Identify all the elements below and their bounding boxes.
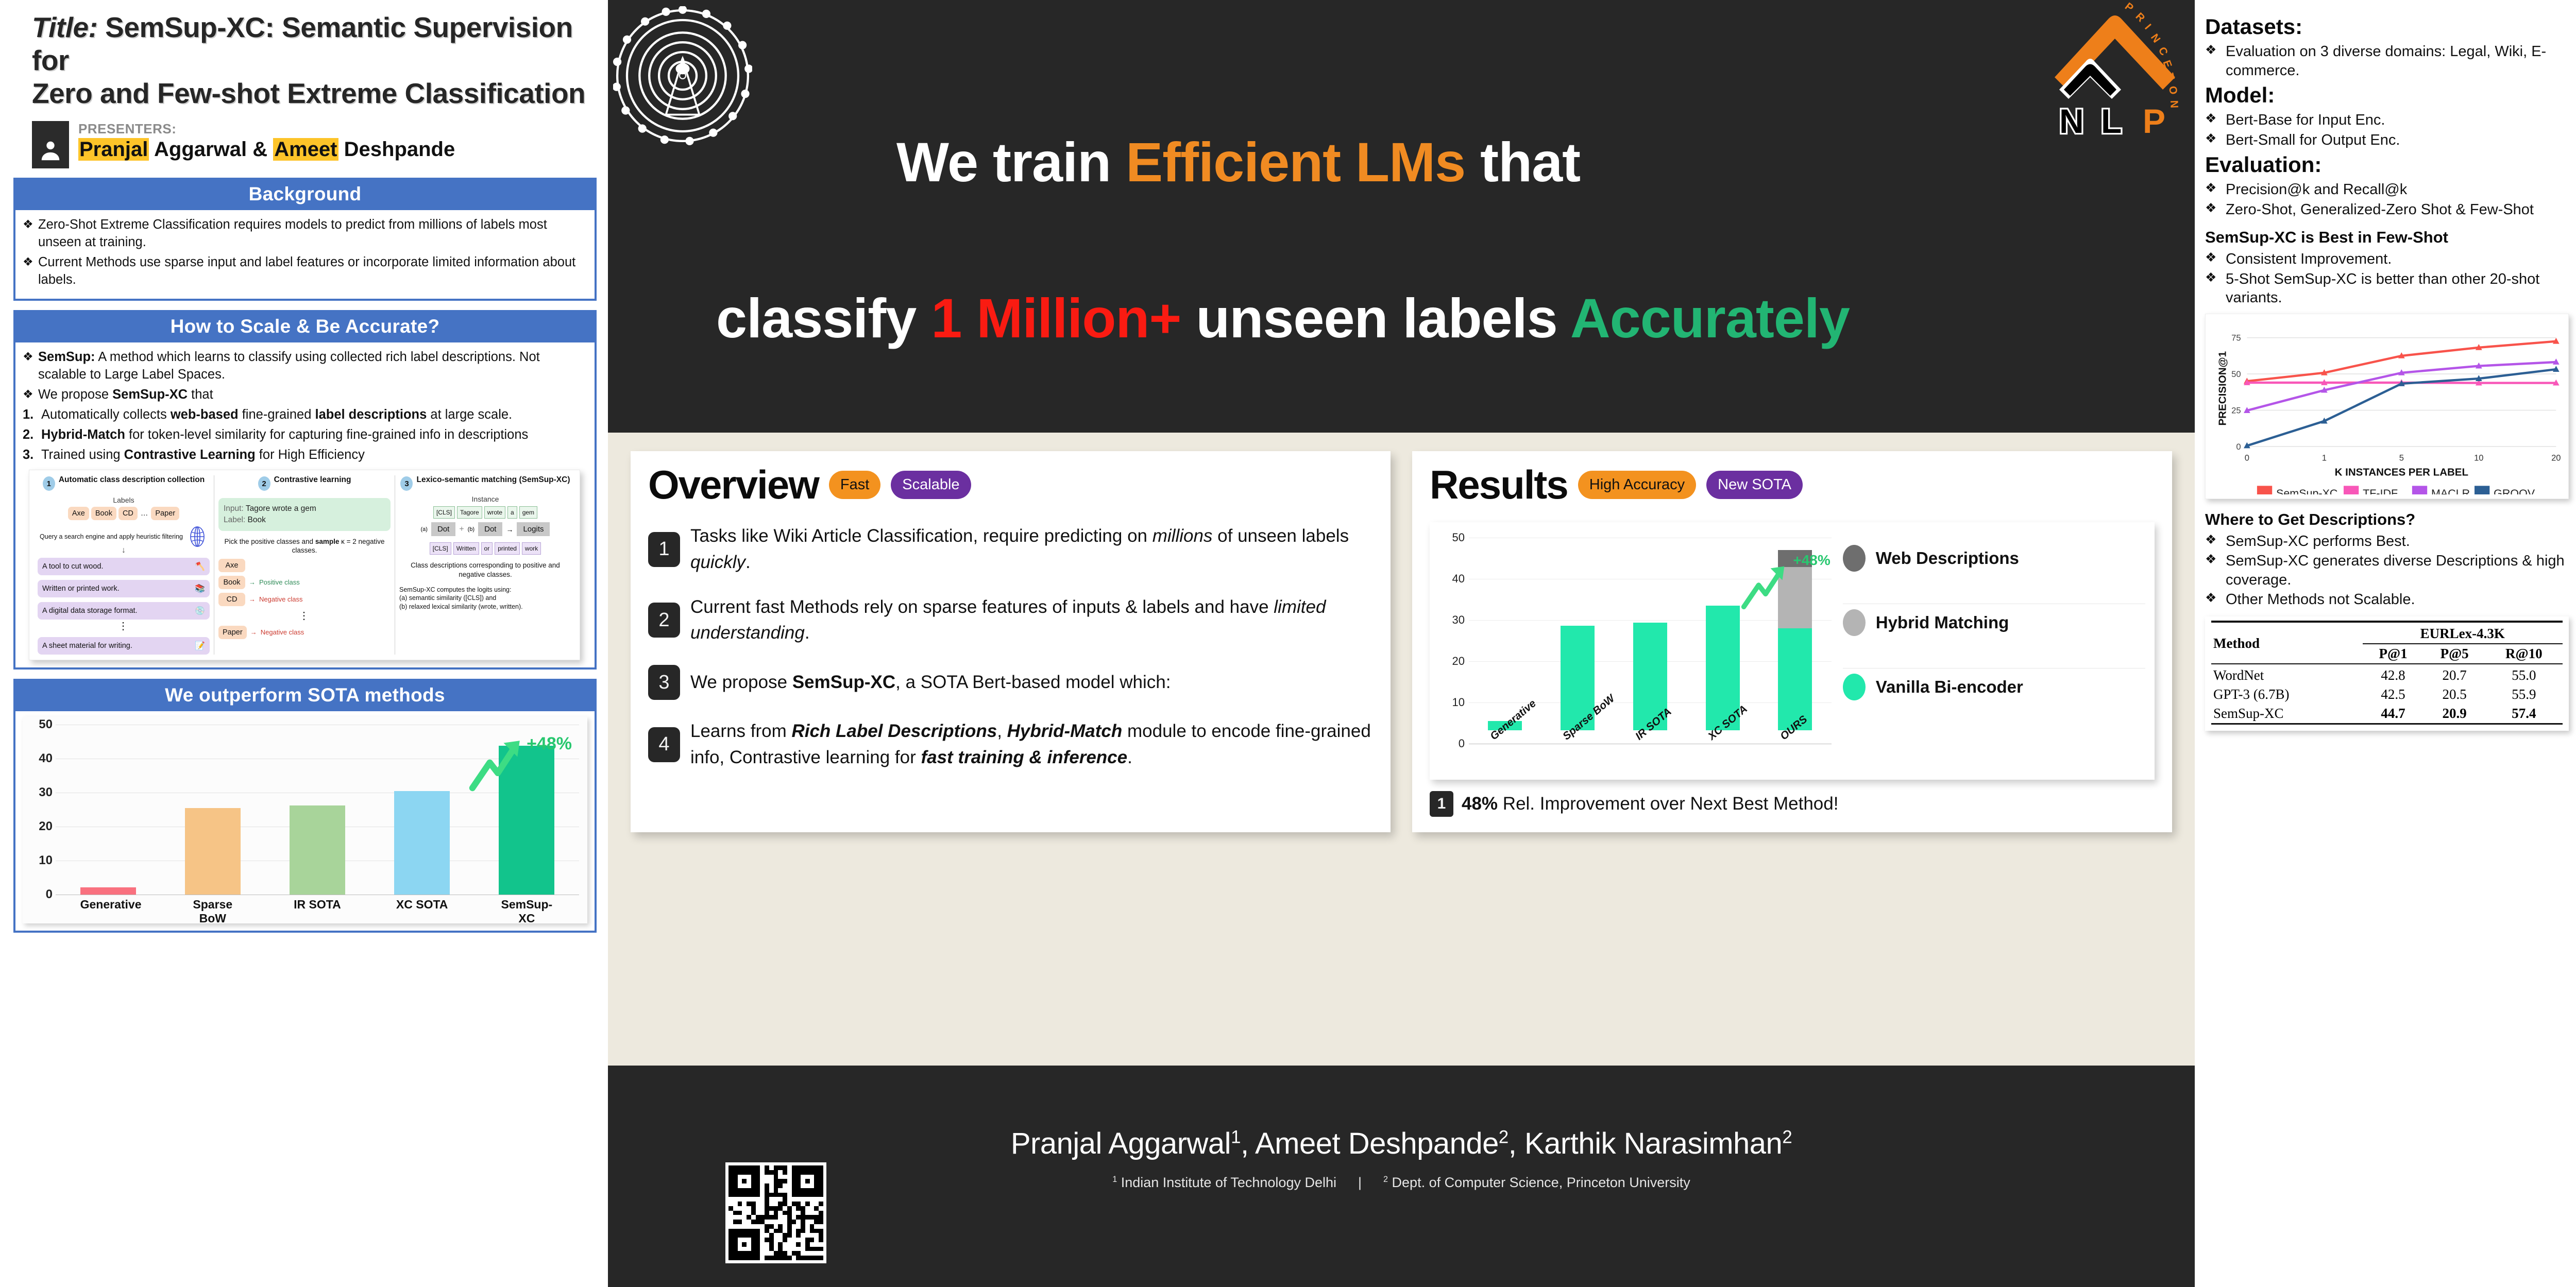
- qr-module: [783, 1238, 787, 1242]
- qr-module: [792, 1170, 796, 1175]
- footnote-line: (a) semantic similarity ([CLS]) and: [399, 594, 571, 603]
- ov4-bolditalic-1: Rich Label Descriptions: [791, 721, 997, 741]
- qr-module: [756, 1165, 760, 1170]
- qr-module: [814, 1229, 819, 1233]
- x-axis-tick: 10: [2474, 453, 2483, 462]
- diamond-bullet-icon: ❖: [2205, 111, 2226, 130]
- qr-module: [819, 1247, 823, 1251]
- item-bold-2: label descriptions: [315, 407, 427, 422]
- method-figure: 1 Automatic class description collection…: [29, 470, 580, 660]
- instance-caption: Instance: [399, 495, 571, 503]
- qr-module: [801, 1238, 805, 1242]
- y-axis-tick: 0: [1441, 737, 1465, 750]
- qr-module: [814, 1165, 819, 1170]
- description-token: printed: [495, 542, 520, 555]
- badge-scalable[interactable]: Scalable: [891, 471, 971, 499]
- x-axis-label-slot: XC SOTA: [1706, 730, 1740, 771]
- qr-module: [810, 1238, 815, 1242]
- legend-label: SemSup-XC: [2276, 487, 2337, 494]
- results-plot-area: 01020304050+48% GenerativeSparse BoWIR S…: [1439, 530, 1835, 775]
- method-footnotes: SemSup-XC computes the logits using: (a)…: [399, 586, 571, 612]
- qr-module: [751, 1251, 756, 1256]
- labels-caption: Labels: [38, 496, 210, 504]
- col-header-r10: R@10: [2485, 644, 2563, 664]
- list-item: 2. Hybrid-Match for token-level similari…: [23, 426, 586, 444]
- hero-line-2: classify 1 Million+ unseen labels Accura…: [716, 286, 1850, 350]
- bullet-text: 5-Shot SemSup-XC is better than other 20…: [2226, 270, 2569, 307]
- qr-module: [814, 1247, 819, 1251]
- dot-node-a: Dot: [431, 522, 455, 536]
- qr-module: [778, 1224, 783, 1229]
- qr-module: [792, 1211, 796, 1215]
- qr-module: [792, 1193, 796, 1197]
- x-axis-label: K INSTANCES PER LABEL: [2335, 467, 2468, 478]
- qr-module: [810, 1206, 815, 1211]
- presenter-1-first: Pranjal: [78, 138, 149, 161]
- qr-module: [769, 1233, 774, 1238]
- qr-module: [796, 1220, 801, 1224]
- qr-module: [796, 1206, 801, 1211]
- class-chip: Axe: [218, 559, 245, 572]
- qr-module: [778, 1229, 783, 1233]
- qr-module: [774, 1256, 778, 1260]
- description-text: A sheet material for writing.: [42, 642, 132, 650]
- bullet-text: Bert-Base for Input Enc.: [2226, 111, 2385, 130]
- svg-text:N: N: [2148, 32, 2163, 45]
- legend-swatch-hybrid-matching: [1843, 609, 1866, 636]
- qr-module: [751, 1202, 756, 1206]
- svg-text:C: C: [2156, 45, 2170, 58]
- qr-module: [756, 1197, 760, 1202]
- logits-node: Logits: [517, 522, 550, 536]
- qr-module: [796, 1215, 801, 1220]
- semsup-term: SemSup:: [38, 350, 95, 364]
- qr-module: [783, 1197, 787, 1202]
- overview-text-3: We propose SemSup-XC, a SOTA Bert-based …: [690, 670, 1171, 696]
- list-item: ❖5-Shot SemSup-XC is better than other 2…: [2205, 270, 2569, 307]
- list-number: 1.: [23, 406, 41, 424]
- badge-high-accuracy[interactable]: High Accuracy: [1578, 471, 1696, 499]
- qr-module: [814, 1170, 819, 1175]
- qr-module: [792, 1202, 796, 1206]
- results-footnote-rest: Rel. Improvement over Next Best Method!: [1498, 794, 1838, 814]
- qr-module: [814, 1224, 819, 1229]
- qr-module: [819, 1202, 823, 1206]
- qr-module: [733, 1215, 738, 1220]
- step-title-2: Contrastive learning: [274, 475, 351, 485]
- overview-number-3: 3: [648, 665, 680, 700]
- footer-bar: Pranjal Aggarwal1, Ameet Deshpande2, Kar…: [608, 1066, 2195, 1287]
- qr-module: [756, 1229, 760, 1233]
- qr-module: [792, 1197, 796, 1202]
- qr-module: [774, 1251, 778, 1256]
- description-text: A tool to cut wood.: [42, 562, 104, 571]
- diamond-bullet-icon: ❖: [2205, 180, 2226, 199]
- qr-module: [769, 1197, 774, 1202]
- qr-module: [733, 1247, 738, 1251]
- qr-module: [801, 1211, 805, 1215]
- cell-r10: 57.4: [2485, 704, 2563, 724]
- qr-module: [805, 1229, 810, 1233]
- y-axis-tick: 40: [30, 751, 53, 766]
- qr-module: [787, 1206, 792, 1211]
- description-token: Written: [453, 542, 479, 555]
- qr-module: [765, 1247, 769, 1251]
- method-figure-column-1: 1 Automatic class description collection…: [33, 475, 214, 655]
- right-column: Datasets: ❖Evaluation on 3 diverse domai…: [2195, 0, 2576, 1287]
- qr-module: [747, 1170, 751, 1175]
- qr-module: [801, 1224, 805, 1229]
- qr-module: [765, 1251, 769, 1256]
- overview-text-4: Learns from Rich Label Descriptions, Hyb…: [690, 718, 1373, 771]
- qr-module: [742, 1215, 747, 1220]
- qr-module: [742, 1238, 747, 1242]
- x-axis-label-slot: Generative: [1488, 730, 1522, 771]
- cell-r10: 55.0: [2485, 666, 2563, 685]
- qr-module: [747, 1211, 751, 1215]
- y-axis-tick: 20: [30, 819, 53, 834]
- qr-module: [787, 1224, 792, 1229]
- qr-module: [756, 1206, 760, 1211]
- ov1-italic-2: quickly: [690, 552, 745, 572]
- sampling-note: Pick the positive classes and sample κ =…: [218, 537, 391, 555]
- qr-module: [792, 1215, 796, 1220]
- qr-module: [769, 1251, 774, 1256]
- qr-module: [792, 1229, 796, 1233]
- qr-module: [765, 1215, 769, 1220]
- qr-module: [760, 1165, 765, 1170]
- step-badge-2: 2: [258, 476, 270, 491]
- results-stacked-bar-chart: 01020304050+48% GenerativeSparse BoWIR S…: [1430, 522, 2155, 780]
- qr-module: [765, 1197, 769, 1202]
- qr-module: [769, 1229, 774, 1233]
- qr-module: [756, 1247, 760, 1251]
- qr-module: [774, 1224, 778, 1229]
- item-bold-1: Contrastive Learning: [124, 448, 256, 462]
- list-item: ❖ Zero-Shot Extreme Classification requi…: [23, 216, 586, 251]
- bullet-text: Precision@k and Recall@k: [2226, 180, 2407, 199]
- qr-module: [765, 1211, 769, 1215]
- qr-module: [765, 1220, 769, 1224]
- qr-module: [728, 1224, 733, 1229]
- list-item: ❖ We propose SemSup-XC that: [23, 386, 586, 404]
- qr-module: [747, 1251, 751, 1256]
- affil-2: Dept. of Computer Science, Princeton Uni…: [1388, 1175, 1690, 1190]
- qr-module: [783, 1247, 787, 1251]
- qr-module: [796, 1170, 801, 1175]
- qr-module: [747, 1247, 751, 1251]
- qr-module: [751, 1170, 756, 1175]
- qr-module: [751, 1206, 756, 1211]
- qr-module: [778, 1251, 783, 1256]
- qr-module: [728, 1215, 733, 1220]
- list-item: 3. Trained using Contrastive Learning fo…: [23, 447, 586, 464]
- notepad-emoji-icon: 📝: [195, 641, 205, 651]
- overview-number-1: 1: [648, 532, 680, 567]
- hero-2b: 1 Million+: [931, 287, 1181, 349]
- qr-module: [805, 1206, 810, 1211]
- qr-module: [747, 1197, 751, 1202]
- qr-module: [819, 1256, 823, 1260]
- qr-module: [819, 1251, 823, 1256]
- qr-module: [778, 1206, 783, 1211]
- results-head: Results High Accuracy New SOTA: [1430, 465, 2155, 505]
- person-icon: [32, 121, 69, 168]
- class-kind: Negative class: [259, 595, 303, 603]
- qr-module: [769, 1242, 774, 1247]
- affil-1-sup: 1: [1112, 1175, 1117, 1184]
- qr-module: [765, 1229, 769, 1233]
- qr-module: [760, 1251, 765, 1256]
- label-chip-row: Axe Book CD … Paper: [38, 507, 210, 520]
- qr-module: [796, 1229, 801, 1233]
- qr-module: [778, 1202, 783, 1206]
- qr-module: [756, 1256, 760, 1260]
- overview-number-4: 4: [648, 727, 680, 762]
- qr-module: [774, 1238, 778, 1242]
- qr-module: [778, 1165, 783, 1170]
- qr-module: [733, 1233, 738, 1238]
- legend-label: GROOV: [2494, 487, 2535, 494]
- list-number: 3.: [23, 447, 41, 464]
- qr-module: [756, 1224, 760, 1229]
- qr-module: [769, 1206, 774, 1211]
- list-item: ❖Precision@k and Recall@k: [2205, 180, 2569, 199]
- left-column: Title: SemSup-XC: Semantic Supervision f…: [0, 0, 608, 1287]
- axe-emoji-icon: 🪓: [195, 561, 205, 572]
- x-axis-label-slot: OURS: [1778, 730, 1812, 771]
- plus-icon: +: [459, 525, 464, 534]
- y-axis-tick: 30: [1441, 613, 1465, 627]
- qr-module: [728, 1229, 733, 1233]
- qr-module: [814, 1211, 819, 1215]
- qr-module: [760, 1193, 765, 1197]
- marker-a: (a): [421, 526, 428, 533]
- qr-module: [787, 1238, 792, 1242]
- qr-module: [805, 1220, 810, 1224]
- qr-module: [805, 1238, 810, 1242]
- qr-module: [796, 1251, 801, 1256]
- qr-module: [765, 1242, 769, 1247]
- datasets-heading: Datasets:: [2205, 14, 2569, 39]
- hero-1a: We train: [896, 131, 1126, 193]
- qr-module: [733, 1197, 738, 1202]
- qr-module: [728, 1247, 733, 1251]
- overview-item-2: 2 Current fast Methods rely on sparse fe…: [648, 594, 1373, 647]
- qr-module: [738, 1211, 742, 1215]
- scale-box-heading: How to Scale & Be Accurate?: [15, 312, 595, 342]
- qr-module: [814, 1238, 819, 1242]
- qr-module: [814, 1206, 819, 1211]
- cell-p1: 44.7: [2363, 704, 2424, 724]
- page-title: Title: SemSup-XC: Semantic Supervision f…: [32, 11, 595, 110]
- hero-banner: N L P P R I N C E T O N We train Efficie…: [608, 0, 2195, 433]
- qr-module: [783, 1170, 787, 1175]
- qr-module: [728, 1233, 733, 1238]
- bullet-text: Hybrid-Match for token-level similarity …: [41, 426, 586, 444]
- ov2-pre: Current fast Methods rely on sparse feat…: [690, 597, 1274, 617]
- qr-module: [778, 1256, 783, 1260]
- evaluation-bullets: ❖Precision@k and Recall@k ❖Zero-Shot, Ge…: [2205, 180, 2569, 219]
- qr-module: [751, 1229, 756, 1233]
- qr-module: [801, 1256, 805, 1260]
- qr-module: [787, 1256, 792, 1260]
- fewshot-precision-line-chart: 02550750151020K INSTANCES PER LABELPRECI…: [2205, 314, 2569, 499]
- results-footnote-number: 1: [1430, 791, 1453, 817]
- qr-module: [742, 1197, 747, 1202]
- qr-module: [765, 1206, 769, 1211]
- qr-module: [819, 1170, 823, 1175]
- qr-module: [787, 1220, 792, 1224]
- qr-module: [733, 1238, 738, 1242]
- qr-module: [738, 1238, 742, 1242]
- legend-label: Vanilla Bi-encoder: [1876, 677, 2023, 697]
- qr-module: [774, 1202, 778, 1206]
- title-line-1: SemSup-XC: Semantic Supervision for: [32, 11, 573, 76]
- results-footnote-bold: 48%: [1462, 794, 1498, 814]
- description-text: Written or printed work.: [42, 585, 120, 593]
- qr-module: [765, 1193, 769, 1197]
- cell-p5: 20.7: [2424, 666, 2485, 685]
- class-chip: Book: [218, 576, 245, 589]
- propose-post: that: [188, 387, 213, 402]
- qr-module: [728, 1256, 733, 1260]
- item-bold-1: Hybrid-Match: [41, 427, 125, 442]
- note-pre: Pick the positive classes and: [224, 538, 315, 545]
- qr-module: [814, 1242, 819, 1247]
- qr-module: [760, 1220, 765, 1224]
- method-figure-column-2: 2 Contrastive learning Input: Tagore wro…: [214, 475, 395, 655]
- qr-module: [751, 1233, 756, 1238]
- diamond-bullet-icon: ❖: [2205, 552, 2226, 589]
- qr-module: [787, 1165, 792, 1170]
- bullet-text: SemSup-XC performs Best.: [2226, 532, 2410, 551]
- badge-fast[interactable]: Fast: [829, 471, 880, 499]
- qr-module: [792, 1233, 796, 1238]
- qr-module: [778, 1238, 783, 1242]
- eurlex-table-wrap: Method EURLex-4.3K P@1 P@5 R@10 WordNet …: [2205, 616, 2569, 731]
- qr-module: [792, 1256, 796, 1260]
- qr-module: [787, 1242, 792, 1247]
- qr-module: [787, 1197, 792, 1202]
- item-bold-1: web-based: [171, 407, 239, 422]
- qr-module: [728, 1170, 733, 1175]
- method-col-3-head: 3 Lexico-semantic matching (SemSup-XC): [399, 475, 571, 491]
- scale-box: How to Scale & Be Accurate? ❖ SemSup: A …: [13, 310, 597, 670]
- center-cards: Overview Fast Scalable 1 Tasks like Wiki…: [608, 433, 2195, 832]
- qr-module: [747, 1193, 751, 1197]
- qr-module: [796, 1211, 801, 1215]
- diamond-bullet-icon: ❖: [2205, 532, 2226, 551]
- qr-module: [760, 1215, 765, 1220]
- footnote-line: (b) relaxed lexical similarity (wrote, w…: [399, 603, 571, 611]
- qr-module: [774, 1229, 778, 1233]
- title-block: Title: SemSup-XC: Semantic Supervision f…: [0, 0, 608, 168]
- qr-module: [742, 1202, 747, 1206]
- qr-module: [733, 1220, 738, 1224]
- table-rule: [2211, 724, 2563, 726]
- qr-module: [742, 1256, 747, 1260]
- label-chip: Book: [91, 507, 116, 520]
- qr-module: [742, 1193, 747, 1197]
- qr-module: [814, 1215, 819, 1220]
- qr-module: [801, 1206, 805, 1211]
- bullet-text: Bert-Small for Output Enc.: [2226, 131, 2400, 150]
- item-mid: fine-grained: [239, 407, 315, 422]
- instance-token: wrote: [484, 506, 505, 519]
- bar: [185, 808, 241, 895]
- line-chart-svg: 02550750151020K INSTANCES PER LABELPRECI…: [2211, 320, 2563, 494]
- author-2-sup: 2: [1499, 1127, 1509, 1147]
- results-card: Results High Accuracy New SOTA 010203040…: [1412, 451, 2172, 832]
- col-header-p5: P@5: [2424, 644, 2485, 664]
- qr-module: [796, 1224, 801, 1229]
- qr-module: [728, 1251, 733, 1256]
- presenters-amp: &: [252, 138, 267, 161]
- qr-module: [792, 1220, 796, 1224]
- qr-module: [738, 1170, 742, 1175]
- table-row: WordNet 42.8 20.7 55.0: [2211, 666, 2563, 685]
- qr-module: [810, 1202, 815, 1206]
- qr-module: [787, 1233, 792, 1238]
- qr-module: [805, 1170, 810, 1175]
- instance-token: a: [507, 506, 517, 519]
- qr-module: [733, 1211, 738, 1215]
- bullet-text: Zero-Shot Extreme Classification require…: [38, 216, 586, 251]
- qr-module: [774, 1215, 778, 1220]
- growth-annotation: +48%: [1793, 552, 1830, 569]
- class-row: CD → Negative class: [218, 593, 391, 606]
- table-row: SemSup-XC 44.7 20.9 57.4: [2211, 704, 2563, 724]
- table-header-row: Method EURLex-4.3K: [2211, 624, 2563, 644]
- qr-module: [783, 1224, 787, 1229]
- overview-item-3: 3 We propose SemSup-XC, a SOTA Bert-base…: [648, 665, 1373, 700]
- class-kind: Positive class: [259, 578, 300, 586]
- qr-module: [760, 1197, 765, 1202]
- svg-text:R: R: [2133, 10, 2147, 24]
- qr-module: [819, 1229, 823, 1233]
- y-axis-tick: 40: [1441, 572, 1465, 586]
- overview-item-4: 4 Learns from Rich Label Descriptions, H…: [648, 718, 1373, 771]
- qr-module: [728, 1193, 733, 1197]
- qr-module: [819, 1193, 823, 1197]
- qr-module: [796, 1165, 801, 1170]
- col-header-method: Method: [2211, 624, 2363, 664]
- qr-module: [778, 1242, 783, 1247]
- qr-module: [760, 1242, 765, 1247]
- cd-emoji-icon: 💿: [195, 606, 205, 616]
- author-1-sup: 1: [1231, 1127, 1241, 1147]
- cell-p1: 42.5: [2363, 685, 2424, 704]
- qr-module: [783, 1233, 787, 1238]
- qr-module: [728, 1242, 733, 1247]
- qr-module: [810, 1197, 815, 1202]
- qr-module: [810, 1211, 815, 1215]
- instance-token: Tagore: [457, 506, 482, 519]
- diamond-bullet-icon: ❖: [2205, 200, 2226, 219]
- qr-module: [814, 1202, 819, 1206]
- list-item: ❖Bert-Small for Output Enc.: [2205, 131, 2569, 150]
- results-plot: 01020304050+48%: [1469, 538, 1832, 730]
- qr-module: [738, 1206, 742, 1211]
- qr-module: [728, 1165, 733, 1170]
- qr-module: [742, 1251, 747, 1256]
- diamond-bullet-icon: ❖: [2205, 42, 2226, 80]
- badge-new-sota[interactable]: New SOTA: [1706, 471, 1803, 499]
- ov4-post: .: [1127, 747, 1132, 767]
- bullet-text: Current Methods use sparse input and lab…: [38, 254, 586, 289]
- qr-module: [769, 1220, 774, 1224]
